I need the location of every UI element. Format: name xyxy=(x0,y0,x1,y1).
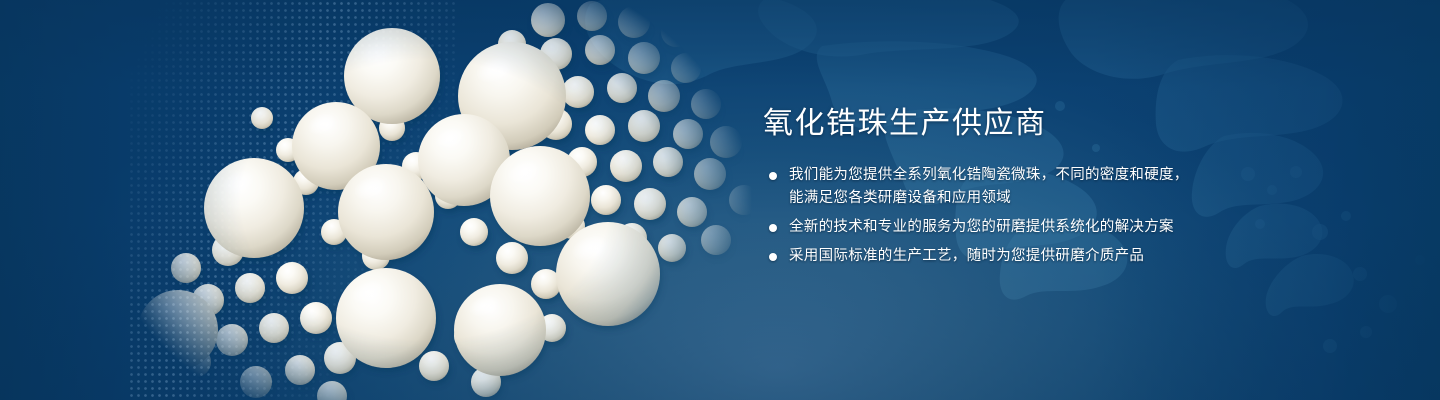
bullet-dot-icon xyxy=(769,172,777,180)
bullet-dot-icon xyxy=(769,224,777,232)
list-item-text: 全新的技术和专业的服务为您的研磨提供系统化的解决方案 xyxy=(789,219,1174,235)
banner-copy: 氧化锆珠生产供应商 我们能为您提供全系列氧化锆陶瓷微珠，不同的密度和硬度，能满足… xyxy=(763,104,1363,268)
hero-banner: 氧化锆珠生产供应商 我们能为您提供全系列氧化锆陶瓷微珠，不同的密度和硬度，能满足… xyxy=(0,0,1440,400)
list-item: 采用国际标准的生产工艺，随时为您提供研磨介质产品 xyxy=(763,245,1193,268)
zirconia-beads-image xyxy=(0,0,760,400)
list-item: 全新的技术和专业的服务为您的研磨提供系统化的解决方案 xyxy=(763,216,1193,239)
list-item-text: 我们能为您提供全系列氧化锆陶瓷微珠，不同的密度和硬度，能满足您各类研磨设备和应用… xyxy=(789,167,1189,206)
list-item: 我们能为您提供全系列氧化锆陶瓷微珠，不同的密度和硬度，能满足您各类研磨设备和应用… xyxy=(763,164,1193,210)
bullet-dot-icon xyxy=(769,253,777,261)
feature-list: 我们能为您提供全系列氧化锆陶瓷微珠，不同的密度和硬度，能满足您各类研磨设备和应用… xyxy=(763,164,1363,268)
list-item-text: 采用国际标准的生产工艺，随时为您提供研磨介质产品 xyxy=(789,248,1144,264)
page-title: 氧化锆珠生产供应商 xyxy=(763,104,1363,144)
